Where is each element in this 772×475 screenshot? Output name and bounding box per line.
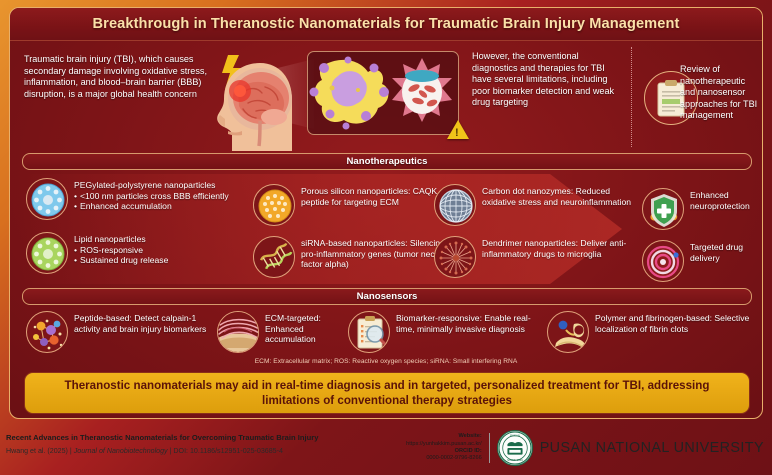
item-bullets: <100 nm particles cross BBB efficiently … — [74, 191, 229, 212]
orcid-id[interactable]: 0000-0002-9796-8266 — [406, 455, 482, 462]
orcid-label: ORCID ID: — [406, 448, 482, 455]
list-item: Biomarker-responsive: Enable real-time, … — [348, 311, 548, 353]
svg-text:SINCE 1946: SINCE 1946 — [507, 458, 523, 462]
list-item: Carbon dot nanozymes: Reduced oxidative … — [434, 184, 634, 226]
peptide-molecule-icon — [26, 311, 68, 353]
item-heading: Lipid nanoparticles — [74, 234, 168, 245]
pink-cell-illustration — [392, 58, 452, 122]
item-heading: Peptide-based: Detect calpain-1 activity… — [74, 313, 216, 334]
list-item: Targeted drug delivery — [642, 240, 763, 282]
item-text: Dendrimer nanoparticles: Deliver anti-in… — [482, 236, 639, 259]
conclusion-text: Theranostic nanomaterials may aid in rea… — [35, 378, 739, 408]
citation-separator-2: | — [170, 447, 172, 455]
item-text: Lipid nanoparticles ROS-responsive Susta… — [74, 232, 168, 266]
list-item: Polymer and fibrinogen-based: Selective … — [547, 311, 762, 353]
footer: Recent Advances in Theranostic Nanomater… — [0, 424, 772, 475]
title-bar: Breakthrough in Theranostic Nanomaterial… — [10, 8, 762, 41]
authors-year: Hwang et al. (2025) — [6, 447, 68, 455]
limitations-text: However, the conventional diagnostics an… — [472, 51, 620, 109]
review-description-text: Review of nanotherapeutic and nanosensor… — [680, 64, 762, 122]
fibrin-clot-probe-icon — [547, 311, 589, 353]
bullet: Sustained drug release — [74, 255, 168, 266]
clipboard-magnifier-icon — [348, 311, 390, 353]
footer-citation-block: Recent Advances in Theranostic Nanomater… — [6, 432, 426, 457]
abbreviations-note: ECM: Extracellular matrix; ROS: Reactive… — [10, 358, 762, 365]
item-heading: Carbon dot nanozymes: Reduced oxidative … — [482, 186, 634, 207]
section-label-nanosensors: Nanosensors — [357, 291, 418, 302]
item-text: siRNA-based nanoparticles: Silencing pro… — [301, 236, 453, 270]
contact-info: Website: https://yunhakkim.pusan.ac.kr/ … — [406, 433, 490, 463]
list-item: siRNA-based nanoparticles: Silencing pro… — [253, 236, 453, 278]
item-text: Porous silicon nanoparticles: CAQK pepti… — [301, 184, 448, 207]
item-heading: PEGylated-polystyrene nanoparticles — [74, 180, 229, 191]
bullet: <100 nm particles cross BBB efficiently — [74, 191, 229, 202]
warning-exclamation: ! — [455, 128, 459, 139]
item-text: PEGylated-polystyrene nanoparticles <100… — [74, 178, 229, 212]
website-url[interactable]: https://yunhakkim.pusan.ac.kr/ — [406, 441, 482, 448]
item-heading: Polymer and fibrinogen-based: Selective … — [595, 313, 762, 334]
list-item: Peptide-based: Detect calpain-1 activity… — [26, 311, 216, 353]
section-header-nanosensors: Nanosensors — [22, 288, 752, 305]
infographic-card: Breakthrough in Theranostic Nanomaterial… — [9, 7, 763, 419]
journal-name: Journal of Nanobiotechnology — [74, 447, 168, 455]
item-text: Polymer and fibrinogen-based: Selective … — [595, 311, 762, 334]
section-header-nanotherapeutics: Nanotherapeutics — [22, 153, 752, 170]
item-text: Peptide-based: Detect calpain-1 activity… — [74, 311, 216, 334]
conclusion-banner: Theranostic nanomaterials may aid in rea… — [24, 372, 750, 414]
item-heading: Biomarker-responsive: Enable real-time, … — [396, 313, 548, 334]
citation-separator-1: | — [70, 447, 72, 455]
porous-silicon-nanoparticle-icon — [253, 184, 295, 226]
item-text: Enhanced neuroprotection — [690, 188, 763, 211]
vertical-dotted-divider — [631, 47, 632, 147]
list-item: ECM-targeted: Enhanced accumulation — [217, 311, 347, 353]
head-brain-illustration — [198, 47, 302, 151]
item-heading: Porous silicon nanoparticles: CAQK pepti… — [301, 186, 448, 207]
website-label: Website: — [406, 433, 482, 440]
svg-text:PUSAN: PUSAN — [510, 434, 520, 438]
pegylated-polystyrene-nanoparticle-icon — [26, 178, 68, 220]
item-heading: Targeted drug delivery — [690, 242, 763, 263]
item-text: ECM-targeted: Enhanced accumulation — [265, 311, 347, 345]
list-item: Porous silicon nanoparticles: CAQK pepti… — [253, 184, 448, 226]
carbon-dot-nanozyme-icon — [434, 184, 476, 226]
university-seal-logo: PUSAN SINCE 1946 — [497, 430, 533, 466]
paper-title: Recent Advances in Theranostic Nanomater… — [6, 432, 426, 443]
doi[interactable]: DOI: 10.1186/s12951-025-03685-4 — [173, 447, 283, 455]
bullet: ROS-responsive — [74, 245, 168, 256]
bullet: Enhanced accumulation — [74, 201, 229, 212]
list-item: PEGylated-polystyrene nanoparticles <100… — [26, 178, 241, 220]
lipid-nanoparticle-icon — [26, 232, 68, 274]
item-heading: Dendrimer nanoparticles: Deliver anti-in… — [482, 238, 639, 259]
sirna-nanoparticle-icon — [253, 236, 295, 278]
item-heading: siRNA-based nanoparticles: Silencing pro… — [301, 238, 453, 270]
item-text: Biomarker-responsive: Enable real-time, … — [396, 311, 548, 334]
page-title: Breakthrough in Theranostic Nanomaterial… — [93, 16, 680, 32]
citation-line: Hwang et al. (2025) | Journal of Nanobio… — [6, 445, 426, 457]
ecm-fiber-icon — [217, 311, 259, 353]
item-heading: Enhanced neuroprotection — [690, 190, 763, 211]
top-summary-zone: Traumatic brain injury (TBI), which caus… — [10, 41, 762, 153]
cell-illustration-panel — [307, 51, 459, 135]
item-bullets: ROS-responsive Sustained drug release — [74, 245, 168, 266]
tbi-description-text: Traumatic brain injury (TBI), which caus… — [24, 54, 210, 100]
inflamed-cell-illustration — [310, 57, 390, 130]
list-item: Dendrimer nanoparticles: Deliver anti-in… — [434, 236, 639, 278]
university-name: PUSAN NATIONAL UNIVERSITY — [540, 440, 764, 456]
section-label-nanotherapeutics: Nanotherapeutics — [346, 156, 427, 167]
item-text: Carbon dot nanozymes: Reduced oxidative … — [482, 184, 634, 207]
target-icon — [642, 240, 684, 282]
shield-plus-icon — [642, 188, 684, 230]
list-item: Enhanced neuroprotection — [642, 188, 763, 230]
item-heading: ECM-targeted: Enhanced accumulation — [265, 313, 347, 345]
list-item: Lipid nanoparticles ROS-responsive Susta… — [26, 232, 241, 274]
item-text: Targeted drug delivery — [690, 240, 763, 263]
footer-affiliation-block: Website: https://yunhakkim.pusan.ac.kr/ … — [406, 430, 764, 466]
dendrimer-nanoparticle-icon — [434, 236, 476, 278]
